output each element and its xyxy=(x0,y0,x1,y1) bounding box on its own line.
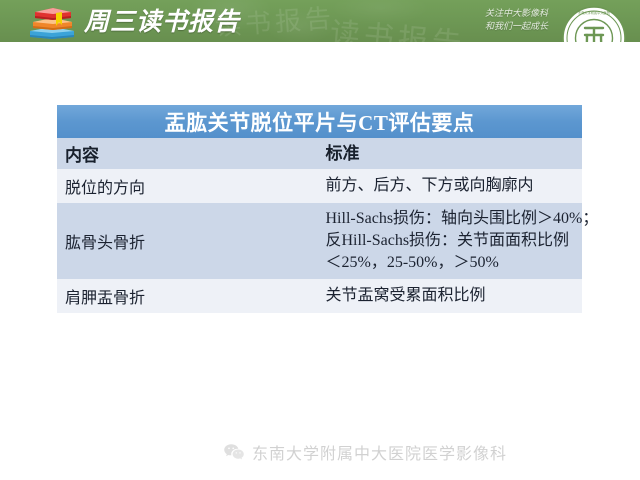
page-footer: 东南大学附属中大医院医学影像科 xyxy=(0,440,640,466)
book-stack-icon xyxy=(26,6,78,40)
standard-line: 关节盂窝受累面积比例 xyxy=(326,285,583,307)
table-row: 肱骨头骨折 Hill-Sachs损伤：轴向头围比例＞40%； 反Hill-Sac… xyxy=(57,203,582,279)
standard-line: Hill-Sachs损伤：轴向头围比例＞40%； xyxy=(326,208,583,230)
row-standard-value: 前方、后方、下方或向胸廓内 xyxy=(320,169,583,203)
header-slogan: 关注中大影像科 和我们一起成长 xyxy=(426,7,548,33)
assessment-table-container: 盂肱关节脱位平片与CT评估要点 内容 标准 脱位的方向 前方、后方、下方或向胸廓… xyxy=(57,105,582,313)
wechat-icon xyxy=(223,443,245,461)
standard-line: ＜25%，25-50%，＞50% xyxy=(326,252,583,274)
row-standard-value: 关节盂窝受累面积比例 xyxy=(320,279,583,313)
standard-line: 反Hill-Sachs损伤：关节面面积比例 xyxy=(326,230,583,252)
row-content-label: 脱位的方向 xyxy=(57,169,320,203)
footer-text: 东南大学附属中大医院医学影像科 xyxy=(252,440,507,464)
header-slogan-line-1: 关注中大影像科 xyxy=(426,7,548,20)
table-title: 盂肱关节脱位平片与CT评估要点 xyxy=(57,105,582,138)
svg-text:东南大学附属中大医院: 东南大学附属中大医院 xyxy=(578,10,611,15)
row-content-label: 肱骨头骨折 xyxy=(57,203,320,279)
southeast-university-seal-icon: 东南大学附属中大医院 ZHONGDA HOSPITAL xyxy=(560,4,628,42)
row-content-label: 肩胛盂骨折 xyxy=(57,279,320,313)
header-brand-title: 周三读书报告 xyxy=(84,6,240,40)
table-row: 肩胛盂骨折 关节盂窝受累面积比例 xyxy=(57,279,582,313)
column-header-content: 内容 xyxy=(57,138,320,169)
standard-line: 前方、后方、下方或向胸廓内 xyxy=(326,175,583,197)
column-header-standard: 标准 xyxy=(320,138,583,169)
table-header-row: 内容 标准 xyxy=(57,138,582,169)
table-row: 脱位的方向 前方、后方、下方或向胸廓内 xyxy=(57,169,582,203)
page-header-band: 读书报告 读书报告 周三读书报告 关注中大影像科 xyxy=(0,0,640,42)
header-slogan-line-2: 和我们一起成长 xyxy=(426,20,548,33)
table-title-row: 盂肱关节脱位平片与CT评估要点 xyxy=(57,105,582,138)
assessment-table: 盂肱关节脱位平片与CT评估要点 内容 标准 脱位的方向 前方、后方、下方或向胸廓… xyxy=(57,105,582,313)
row-standard-value: Hill-Sachs损伤：轴向头围比例＞40%； 反Hill-Sachs损伤：关… xyxy=(320,203,583,279)
